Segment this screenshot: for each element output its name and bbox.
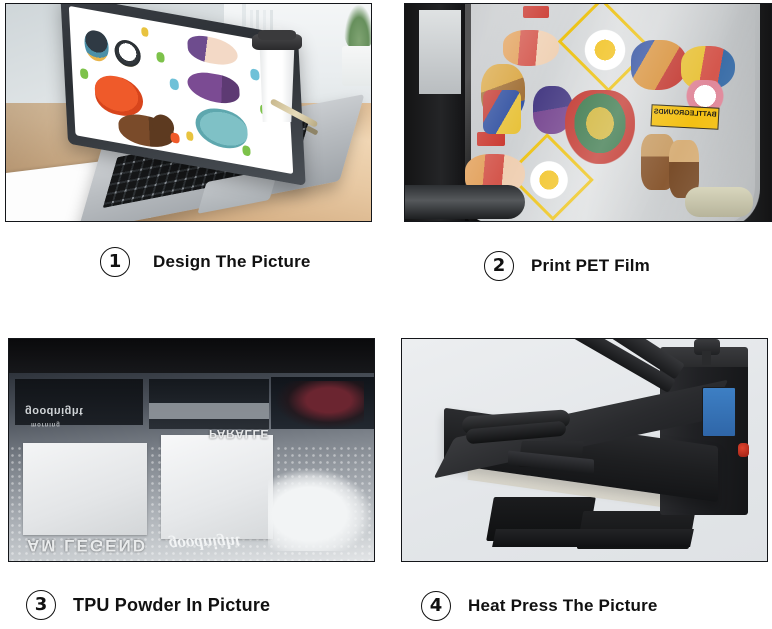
step-3-number-badge: 3 xyxy=(26,590,56,620)
sticker-accent xyxy=(169,78,179,91)
sticker-accent xyxy=(170,132,180,144)
step-2-number-badge: 2 xyxy=(484,251,514,281)
step-4-image xyxy=(401,338,768,562)
press-knob-stem xyxy=(702,351,711,365)
plant-pot xyxy=(342,46,372,86)
sticker-accent xyxy=(141,27,148,37)
coffee-cup-lid-top xyxy=(258,30,296,40)
sticker-accent xyxy=(242,145,251,157)
step-2-image: BATTLEGROUNDS xyxy=(404,3,772,222)
sticker-elephant xyxy=(195,104,249,152)
infographic-page: BATTLEGROUNDS 1 Design The Picture 2 Pri… xyxy=(0,0,772,629)
pens-in-holder xyxy=(250,10,276,30)
sticker-accent xyxy=(156,52,165,64)
machine-top-bar xyxy=(9,339,375,377)
step-1-label: Design The Picture xyxy=(153,252,311,272)
sticker-penguin xyxy=(84,29,110,64)
printer-roller xyxy=(405,185,525,219)
step-1-image xyxy=(5,3,372,222)
sticker-panda xyxy=(114,38,141,69)
step-3-label: TPU Powder In Picture xyxy=(73,595,270,616)
step-3-image: goodnight morning PARALLE AM LEGEND good… xyxy=(8,338,375,562)
printed-dark-area xyxy=(15,379,143,425)
printed-tree-graphic xyxy=(268,469,372,551)
step-4-label: Heat Press The Picture xyxy=(468,596,658,616)
tpu-powder-patch xyxy=(161,435,273,539)
mirrored-text-paralle: PARALLE xyxy=(209,427,269,441)
step-2-caption: 2 Print PET Film xyxy=(484,251,650,281)
sticker-accent xyxy=(80,68,89,80)
mirrored-text-morning: morning xyxy=(31,421,61,427)
step-3-caption: 3 TPU Powder In Picture xyxy=(26,590,270,620)
sticker-fox xyxy=(94,72,144,119)
sticker-hippo xyxy=(187,69,240,107)
plant-leaves xyxy=(344,4,372,50)
film-roll-core xyxy=(685,187,753,217)
step-1-caption: 1 Design The Picture xyxy=(100,247,311,277)
printed-light-band xyxy=(149,403,269,419)
sticker-bunny xyxy=(187,33,238,68)
sticker-accent xyxy=(250,68,260,81)
press-power-button[interactable] xyxy=(738,443,749,457)
step-1-number-badge: 1 xyxy=(100,247,130,277)
step-4-caption: 4 Heat Press The Picture xyxy=(421,591,658,621)
step-4-number-badge: 4 xyxy=(421,591,451,621)
press-control-panel[interactable] xyxy=(702,387,736,437)
printer-side-panel xyxy=(419,10,461,94)
mirrored-text-goodnight: goodnight xyxy=(25,405,83,417)
press-base-bar xyxy=(492,529,694,547)
mirrored-text-am-legend: AM LEGEND xyxy=(27,535,147,555)
tpu-powder-patch xyxy=(23,443,147,535)
step-2-label: Print PET Film xyxy=(531,256,650,276)
sticker-accent xyxy=(186,131,193,141)
mirrored-script-text: goodnight xyxy=(169,532,241,554)
printed-branch-graphic xyxy=(276,381,364,429)
